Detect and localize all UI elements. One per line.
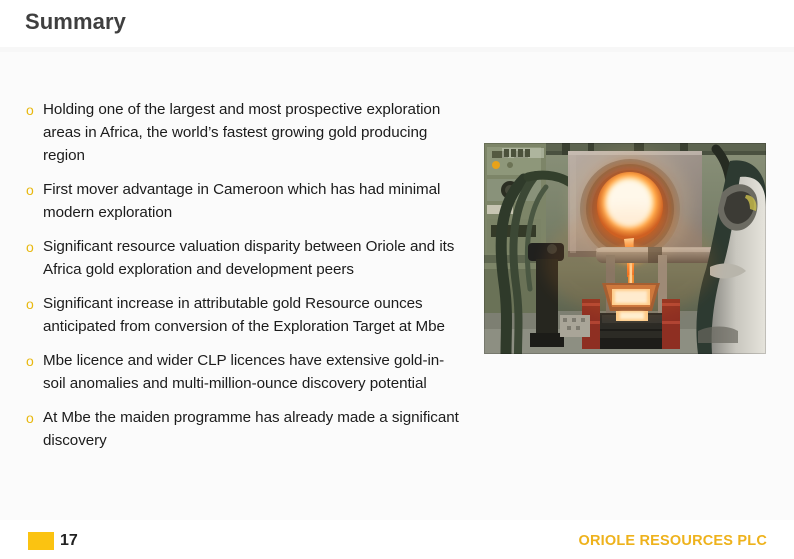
- circle-bullet-icon: o: [26, 178, 43, 202]
- circle-bullet-icon: o: [26, 406, 43, 430]
- list-item: o First mover advantage in Cameroon whic…: [26, 178, 460, 224]
- circle-bullet-icon: o: [26, 349, 43, 373]
- list-item-text: At Mbe the maiden programme has already …: [43, 406, 460, 452]
- footer-gold-square-icon: [28, 532, 54, 550]
- list-item-text: Significant resource valuation disparity…: [43, 235, 460, 281]
- slide-body: o Holding one of the largest and most pr…: [0, 52, 794, 520]
- list-item-text: Significant increase in attributable gol…: [43, 292, 460, 338]
- circle-bullet-icon: o: [26, 98, 43, 122]
- list-item: o Significant resource valuation dispari…: [26, 235, 460, 281]
- list-item-text: Mbe licence and wider CLP licences have …: [43, 349, 460, 395]
- slide-header: Summary: [0, 0, 794, 47]
- circle-bullet-icon: o: [26, 235, 43, 259]
- circle-bullet-icon: o: [26, 292, 43, 316]
- gold-pour-illustration: [484, 143, 766, 354]
- list-item-text: First mover advantage in Cameroon which …: [43, 178, 460, 224]
- list-item: o Significant increase in attributable g…: [26, 292, 460, 338]
- list-item: o Holding one of the largest and most pr…: [26, 98, 460, 167]
- gold-pour-photo: [484, 143, 766, 354]
- page-number: 17: [60, 531, 78, 551]
- slide-footer: 17 ORIOLE RESOURCES PLC: [0, 520, 794, 559]
- page-title: Summary: [25, 9, 126, 35]
- list-item: o At Mbe the maiden programme has alread…: [26, 406, 460, 452]
- list-item: o Mbe licence and wider CLP licences hav…: [26, 349, 460, 395]
- list-item-text: Holding one of the largest and most pros…: [43, 98, 460, 167]
- company-brand-label: ORIOLE RESOURCES PLC: [579, 532, 768, 551]
- summary-bullet-list: o Holding one of the largest and most pr…: [26, 98, 460, 463]
- slide-canvas: Summary o Holding one of the largest and…: [0, 0, 794, 559]
